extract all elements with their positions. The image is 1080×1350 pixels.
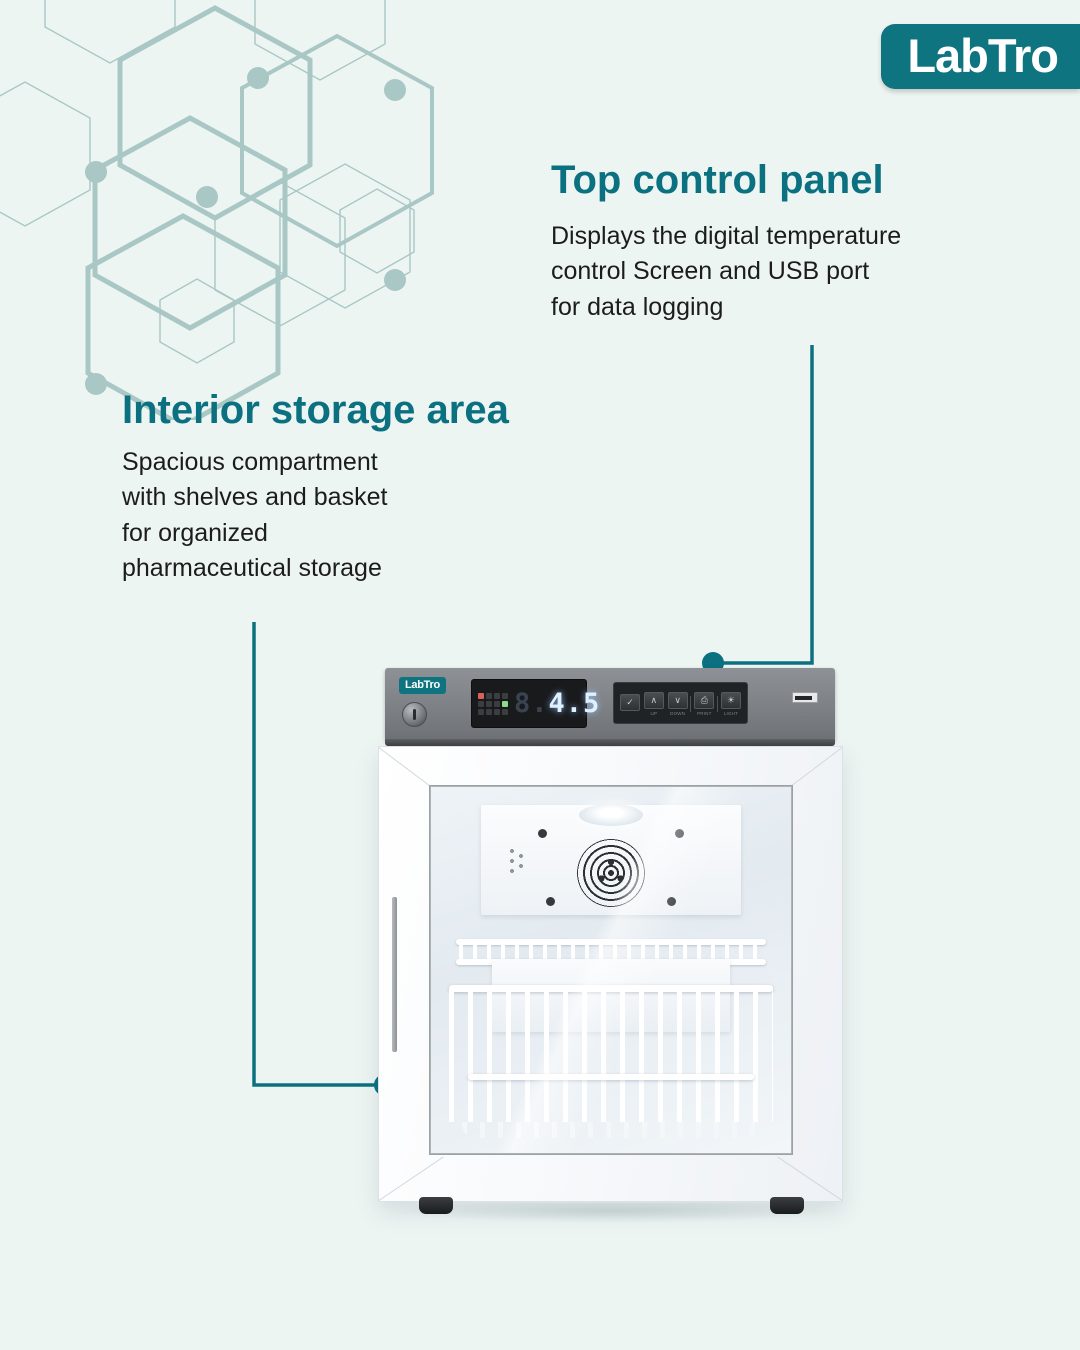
interior-lamp-icon xyxy=(579,804,643,826)
display-ghost-digit: 8. xyxy=(514,688,549,719)
bezel-miter-bottom-right xyxy=(777,1157,842,1201)
bezel-miter-top-left xyxy=(378,747,436,791)
brand-logo: LabTro xyxy=(881,24,1080,89)
led-cell xyxy=(494,701,500,707)
callout-title-top-control-panel: Top control panel xyxy=(551,158,991,203)
button-divider xyxy=(690,696,691,712)
keyhole-slot xyxy=(413,709,416,720)
product-shadow xyxy=(399,1203,828,1223)
refrigerator-cabinet xyxy=(378,746,843,1202)
screw xyxy=(538,829,547,838)
panel-brand-badge: LabTro xyxy=(399,677,446,694)
lightbulb-icon: ☀ xyxy=(721,692,741,709)
button-set[interactable]: ✓ xyxy=(619,694,641,713)
led-cell xyxy=(486,701,492,707)
glass-door-pane xyxy=(431,787,791,1153)
button-down[interactable]: ∨ DOWN xyxy=(667,692,689,716)
callout-body-top-control-panel: Displays the digital temperature control… xyxy=(551,219,991,326)
led-indicator-grid xyxy=(478,693,508,715)
glass-door-frame[interactable] xyxy=(429,785,793,1155)
chevron-down-icon: ∨ xyxy=(668,692,688,709)
led-cell xyxy=(478,701,484,707)
led-cell xyxy=(502,693,508,699)
basket-vertical-wires xyxy=(449,989,773,1123)
led-cell xyxy=(486,709,492,715)
button-print[interactable]: ⎙ PRINT xyxy=(693,692,715,716)
callout-interior-storage-area: Interior storage area Spacious compartme… xyxy=(122,388,572,587)
usb-port[interactable]: USB xyxy=(792,692,818,721)
display-temperature-value: 4.5 xyxy=(549,688,601,719)
callout-title-interior-storage-area: Interior storage area xyxy=(122,388,572,433)
interior-compartment xyxy=(431,787,791,1153)
temperature-readout: 8.4.5 xyxy=(514,690,600,717)
led-alarm xyxy=(478,693,484,699)
product-refrigerator-image: LabTro 8.4.5 ✓ xyxy=(378,668,843,1228)
vent-perforations xyxy=(510,849,532,875)
screw xyxy=(667,897,676,906)
usb-port-label: USB xyxy=(800,712,809,717)
led-cell xyxy=(494,709,500,715)
set-icon: ✓ xyxy=(620,694,640,711)
bezel-miter-bottom-left xyxy=(378,1157,443,1201)
button-label-down: DOWN xyxy=(670,711,685,716)
bezel-miter-top-right xyxy=(784,747,842,791)
screw xyxy=(675,829,684,838)
brand-logo-text: LabTro xyxy=(907,31,1058,80)
button-divider xyxy=(717,696,718,712)
usb-slot-icon xyxy=(792,692,818,703)
hexagon-background-pattern xyxy=(0,0,470,420)
led-power xyxy=(502,701,508,707)
led-cell xyxy=(486,693,492,699)
button-up[interactable]: ∧ UP xyxy=(643,692,665,716)
callout-top-control-panel: Top control panel Displays the digital t… xyxy=(551,158,991,325)
screw xyxy=(546,897,555,906)
top-control-panel: LabTro 8.4.5 ✓ xyxy=(385,668,835,740)
button-label-light: LIGHT xyxy=(724,711,738,716)
chevron-up-icon: ∧ xyxy=(644,692,664,709)
button-label-up: UP xyxy=(651,711,658,716)
basket-mid-band xyxy=(468,1074,753,1080)
printer-icon: ⎙ xyxy=(694,692,714,709)
control-button-cluster: ✓ ∧ UP ∨ DOWN ⎙ PRINT ☀ LIGHT xyxy=(613,682,748,724)
led-cell xyxy=(478,709,484,715)
led-cell xyxy=(502,709,508,715)
wire-storage-basket xyxy=(449,985,773,1139)
callout-body-interior-storage-area: Spacious compartment with shelves and ba… xyxy=(122,445,572,587)
ceiling-cooling-unit xyxy=(481,805,740,915)
button-light[interactable]: ☀ LIGHT xyxy=(720,692,742,716)
basket-floor-wires xyxy=(462,1122,760,1138)
door-hinge xyxy=(392,897,397,1052)
fan-vent-grille xyxy=(577,839,645,907)
button-label-print: PRINT xyxy=(697,711,712,716)
led-cell xyxy=(494,693,500,699)
temperature-display: 8.4.5 xyxy=(471,679,587,728)
door-lock-keyhole[interactable] xyxy=(402,702,427,727)
